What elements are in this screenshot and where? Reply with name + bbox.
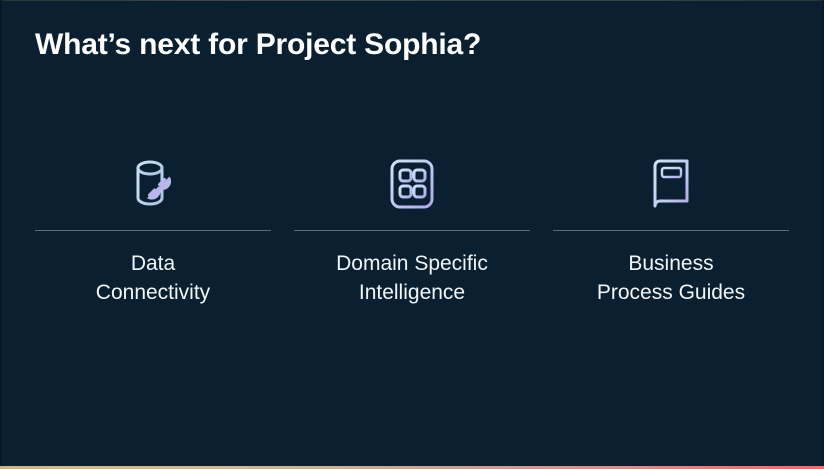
slide-title: What’s next for Project Sophia? xyxy=(35,28,481,62)
grid-squares-icon xyxy=(383,155,441,218)
icon-container xyxy=(383,150,441,222)
feature-card-label: Business Process Guides xyxy=(597,249,745,307)
card-divider xyxy=(35,230,271,231)
card-divider xyxy=(294,230,530,231)
icon-container xyxy=(642,150,700,222)
feature-card-label: Data Connectivity xyxy=(96,249,210,307)
slide-canvas: What’s next for Project Sophia? xyxy=(0,0,824,469)
icon-container xyxy=(123,150,183,222)
feature-card-business-process-guides: Business Process Guides xyxy=(553,150,789,307)
feature-card-data-connectivity: Data Connectivity xyxy=(35,150,271,307)
feature-card-domain-specific-intelligence: Domain Specific Intelligence xyxy=(294,150,530,307)
top-edge-accent xyxy=(0,0,824,1)
card-divider xyxy=(553,230,789,231)
left-edge-shadow xyxy=(0,0,2,469)
feature-card-label: Domain Specific Intelligence xyxy=(336,249,488,307)
book-icon xyxy=(642,155,700,218)
database-connector-icon xyxy=(123,154,183,219)
feature-card-row: Data Connectivity xyxy=(35,150,789,307)
